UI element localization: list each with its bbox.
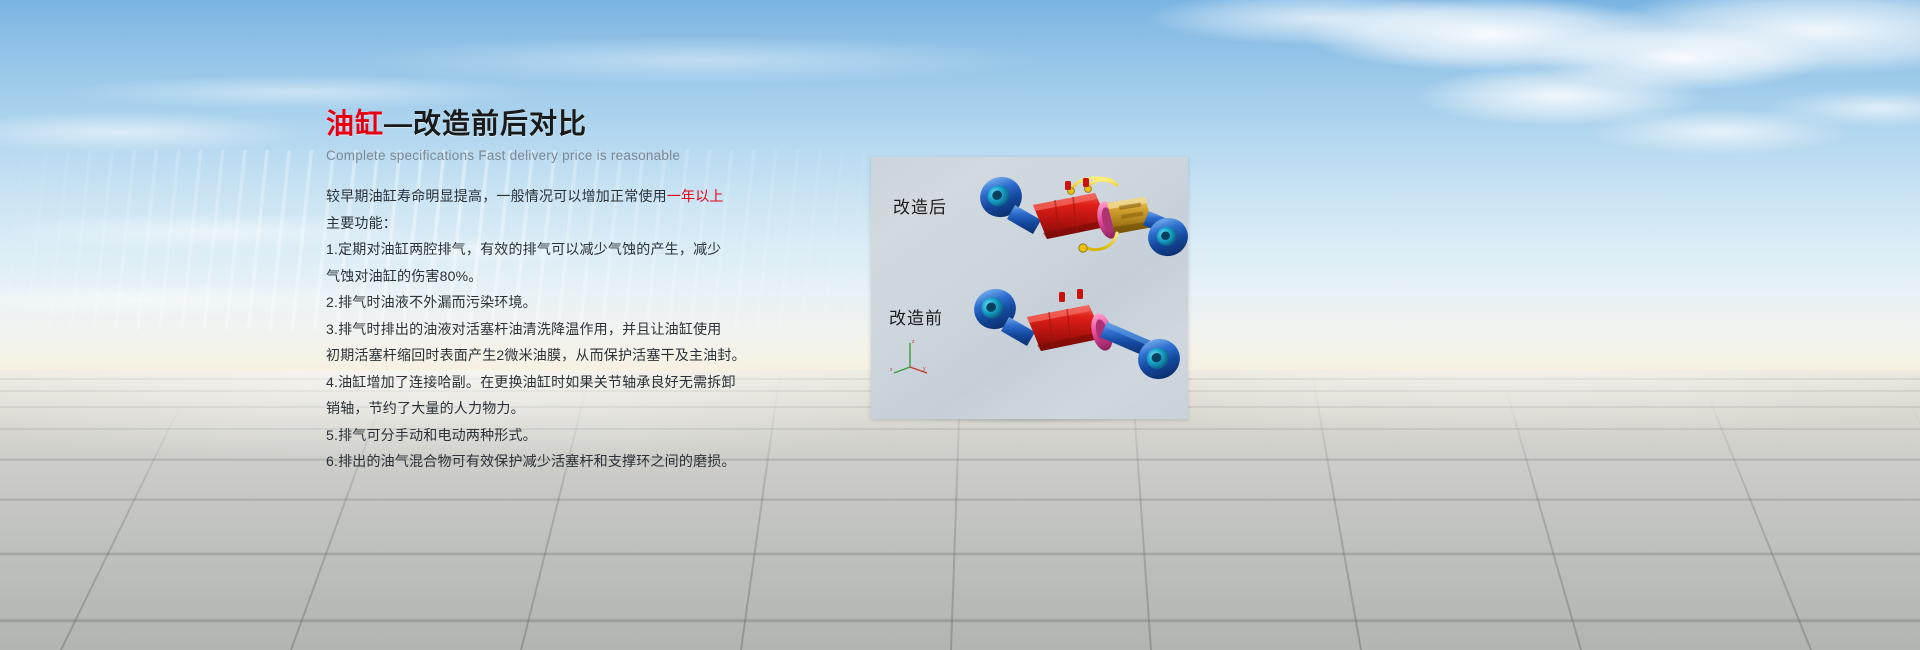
label-after-modification: 改造后 <box>893 193 947 218</box>
product-comparison-panel: 改造后 改造前 <box>871 157 1188 419</box>
body-line-text: 销轴，节约了大量的人力物力。 <box>326 400 525 416</box>
page-subtitle: Complete specifications Fast delivery pr… <box>326 148 866 163</box>
body-line: 3.排气时排出的油液对活塞杆油清洗降温作用，并且让油缸使用 <box>326 316 866 343</box>
svg-text:x: x <box>890 367 893 373</box>
body-line-text: 6.排出的油气混合物可有效保护减少活塞杆和支撑环之间的磨损。 <box>326 453 736 469</box>
banner-stage: 油缸—改造前后对比 Complete specifications Fast d… <box>0 0 1920 650</box>
cad-axis-gizmo-icon: z x y <box>889 337 931 375</box>
body-line: 6.排出的油气混合物可有效保护减少活塞杆和支撑环之间的磨损。 <box>326 448 866 475</box>
body-line: 2.排气时油液不外漏而污染环境。 <box>326 289 866 316</box>
body-line-text: 2.排气时油液不外漏而污染环境。 <box>326 294 537 310</box>
body-line: 气蚀对油缸的伤害80%。 <box>326 263 866 290</box>
banner-text-block: 油缸—改造前后对比 Complete specifications Fast d… <box>326 106 866 475</box>
hydraulic-cylinder-before-render <box>963 279 1188 397</box>
body-line: 主要功能： <box>326 210 866 237</box>
page-title-highlight: 油缸 <box>326 108 384 139</box>
hydraulic-cylinder-after-render <box>967 167 1188 279</box>
cylinder-before-port-a <box>1059 292 1065 302</box>
body-line: 较早期油缸寿命明显提高，一般情况可以增加正常使用一年以上 <box>326 183 866 210</box>
cylinder-after-valve-c <box>1079 244 1087 252</box>
body-line-text: 初期活塞杆缩回时表面产生2微米油膜，从而保护活塞干及主油封。 <box>326 347 746 363</box>
page-title-rest: —改造前后对比 <box>384 108 587 139</box>
body-line-text: 主要功能： <box>326 215 397 231</box>
body-line-text: 3.排气时排出的油液对活塞杆油清洗降温作用，并且让油缸使用 <box>326 321 721 337</box>
body-line-text: 较早期油缸寿命明显提高，一般情况可以增加正常使用 <box>326 188 667 204</box>
body-line: 4.油缸增加了连接哈副。在更换油缸时如果关节轴承良好无需拆卸 <box>326 369 866 396</box>
page-title: 油缸—改造前后对比 <box>326 106 866 142</box>
svg-text:y: y <box>923 366 926 372</box>
body-line-text: 4.油缸增加了连接哈副。在更换油缸时如果关节轴承良好无需拆卸 <box>326 374 736 390</box>
body-line-text: 1.定期对油缸两腔排气，有效的排气可以减少气蚀的产生，减少 <box>326 241 721 257</box>
cylinder-after-cap-a <box>1065 181 1071 190</box>
body-line-accent: 一年以上 <box>667 188 724 204</box>
body-copy: 较早期油缸寿命明显提高，一般情况可以增加正常使用一年以上 主要功能： 1.定期对… <box>326 183 866 475</box>
label-before-modification: 改造前 <box>889 304 943 329</box>
body-line-text: 气蚀对油缸的伤害80%。 <box>326 268 482 284</box>
body-line: 初期活塞杆缩回时表面产生2微米油膜，从而保护活塞干及主油封。 <box>326 342 866 369</box>
cylinder-after-brass-manifold <box>1107 197 1153 234</box>
cylinder-before-port-b <box>1077 289 1083 299</box>
body-line-text: 5.排气可分手动和电动两种形式。 <box>326 427 537 443</box>
body-line: 销轴，节约了大量的人力物力。 <box>326 395 866 422</box>
svg-text:z: z <box>912 339 915 345</box>
cylinder-after-cap-b <box>1083 178 1089 187</box>
body-line: 1.定期对油缸两腔排气，有效的排气可以减少气蚀的产生，减少 <box>326 236 866 263</box>
body-line: 5.排气可分手动和电动两种形式。 <box>326 422 866 449</box>
